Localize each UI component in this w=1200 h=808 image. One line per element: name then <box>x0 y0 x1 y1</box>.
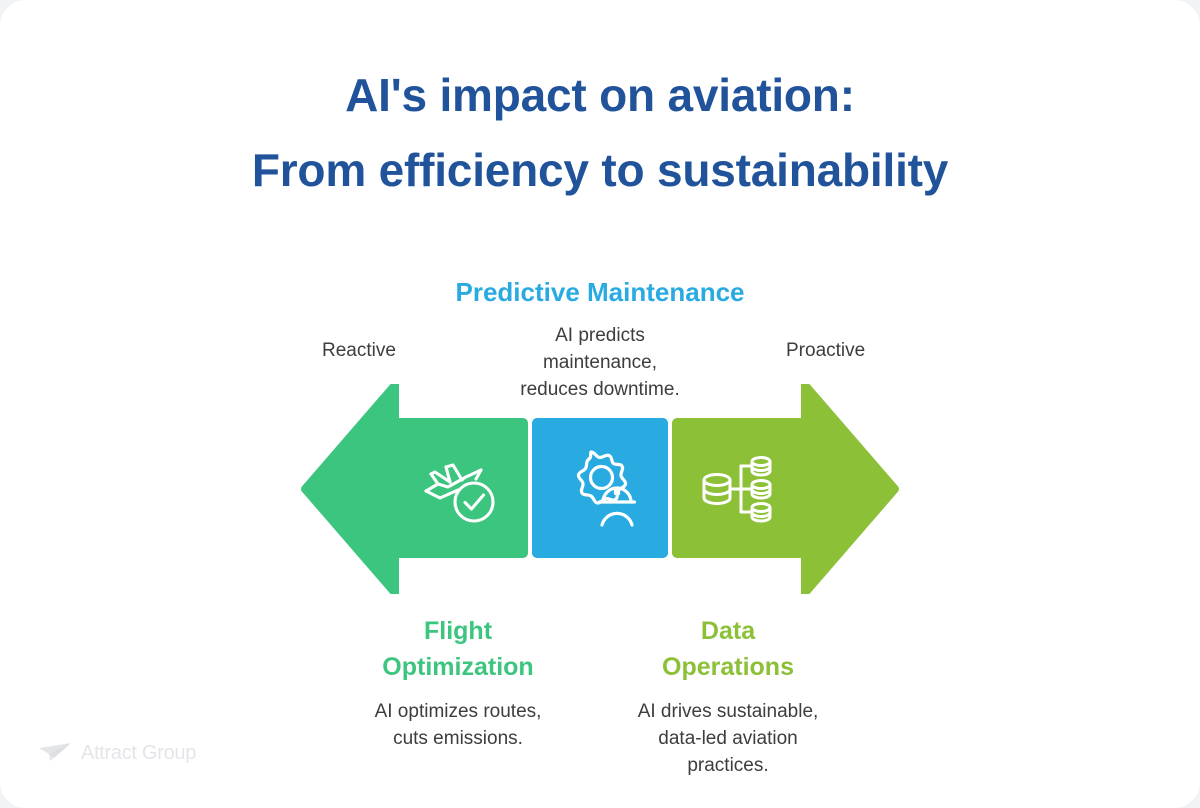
infographic-page: AI's impact on aviation: From efficiency… <box>0 0 1200 808</box>
column-label-data-operations: Data Operations <box>598 614 858 685</box>
flight-label-line-1: Flight <box>328 614 588 650</box>
brand-logo: Attract Group <box>38 742 196 764</box>
icon-box-row <box>392 418 808 558</box>
endpoint-label-reactive: Reactive <box>322 340 396 363</box>
title-line-1: AI's impact on aviation: <box>0 58 1200 133</box>
page-title: AI's impact on aviation: From efficiency… <box>0 58 1200 207</box>
bidirectional-arrow-diagram <box>300 384 900 594</box>
icon-box-predictive-maintenance[interactable] <box>532 418 668 558</box>
center-desc-line-2: maintenance, <box>400 349 800 376</box>
icon-box-flight-optimization[interactable] <box>392 418 528 558</box>
data-desc-line-1: AI drives sustainable, <box>588 698 868 725</box>
column-description-flight-optimization: AI optimizes routes, cuts emissions. <box>318 698 598 752</box>
brand-logo-text: Attract Group <box>81 743 196 763</box>
data-desc-line-3: practices. <box>588 752 868 779</box>
data-desc-line-2: data-led aviation <box>588 725 868 752</box>
flight-desc-line-1: AI optimizes routes, <box>318 698 598 725</box>
gear-worker-icon <box>558 446 642 530</box>
left-arrow-icon <box>305 385 395 593</box>
airplane-check-icon <box>418 446 502 530</box>
data-label-line-1: Data <box>598 614 858 650</box>
paper-plane-icon <box>38 742 72 764</box>
center-desc-line-1: AI predicts <box>400 322 800 349</box>
title-line-2: From efficiency to sustainability <box>0 133 1200 208</box>
column-label-flight-optimization: Flight Optimization <box>328 614 588 685</box>
predictive-maintenance-title: Predictive Maintenance <box>400 276 800 310</box>
check-mark-icon <box>465 495 484 509</box>
infographic-card: AI's impact on aviation: From efficiency… <box>0 0 1200 808</box>
flight-label-line-2: Optimization <box>328 650 588 686</box>
endpoint-label-proactive: Proactive <box>786 340 865 363</box>
check-badge-circle <box>455 483 493 521</box>
database-network-icon <box>698 446 782 530</box>
flight-desc-line-2: cuts emissions. <box>318 725 598 752</box>
right-arrow-icon <box>805 385 895 593</box>
icon-box-data-operations[interactable] <box>672 418 808 558</box>
column-description-data-operations: AI drives sustainable, data-led aviation… <box>588 698 868 779</box>
data-label-line-2: Operations <box>598 650 858 686</box>
